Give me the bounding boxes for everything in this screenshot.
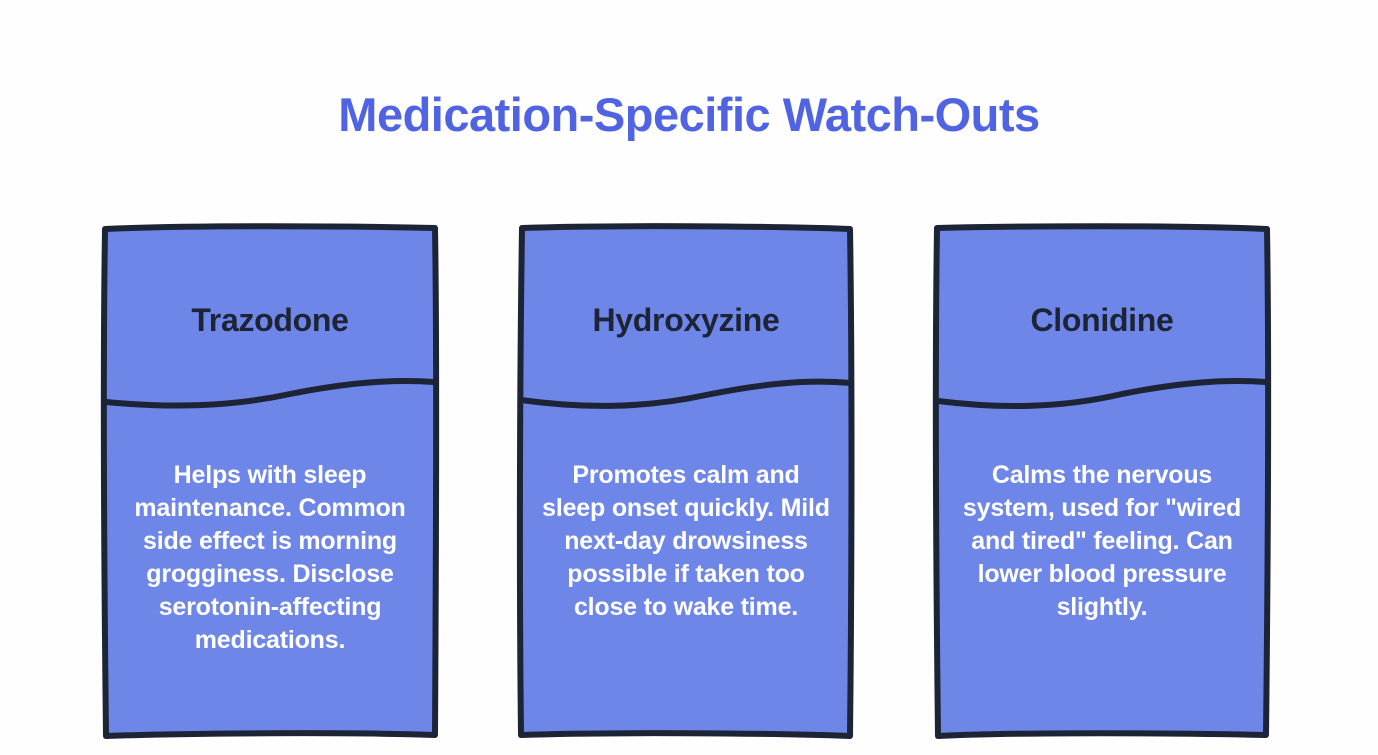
medication-card-list: Trazodone Helps with sleep maintenance. … bbox=[0, 222, 1378, 742]
page-title: Medication-Specific Watch-Outs bbox=[0, 86, 1378, 144]
medication-card-trazodone[interactable]: Trazodone Helps with sleep maintenance. … bbox=[100, 222, 440, 742]
card-title-trazodone: Trazodone bbox=[100, 300, 440, 340]
card-body-trazodone: Helps with sleep maintenance. Common sid… bbox=[124, 459, 416, 657]
card-body-hydroxyzine: Promotes calm and sleep onset quickly. M… bbox=[540, 459, 832, 624]
card-body-clonidine: Calms the nervous system, used for "wire… bbox=[956, 459, 1248, 624]
medication-card-clonidine[interactable]: Clonidine Calms the nervous system, used… bbox=[932, 222, 1272, 742]
card-title-clonidine: Clonidine bbox=[932, 300, 1272, 340]
medication-card-hydroxyzine[interactable]: Hydroxyzine Promotes calm and sleep onse… bbox=[516, 222, 856, 742]
card-title-hydroxyzine: Hydroxyzine bbox=[516, 300, 856, 340]
